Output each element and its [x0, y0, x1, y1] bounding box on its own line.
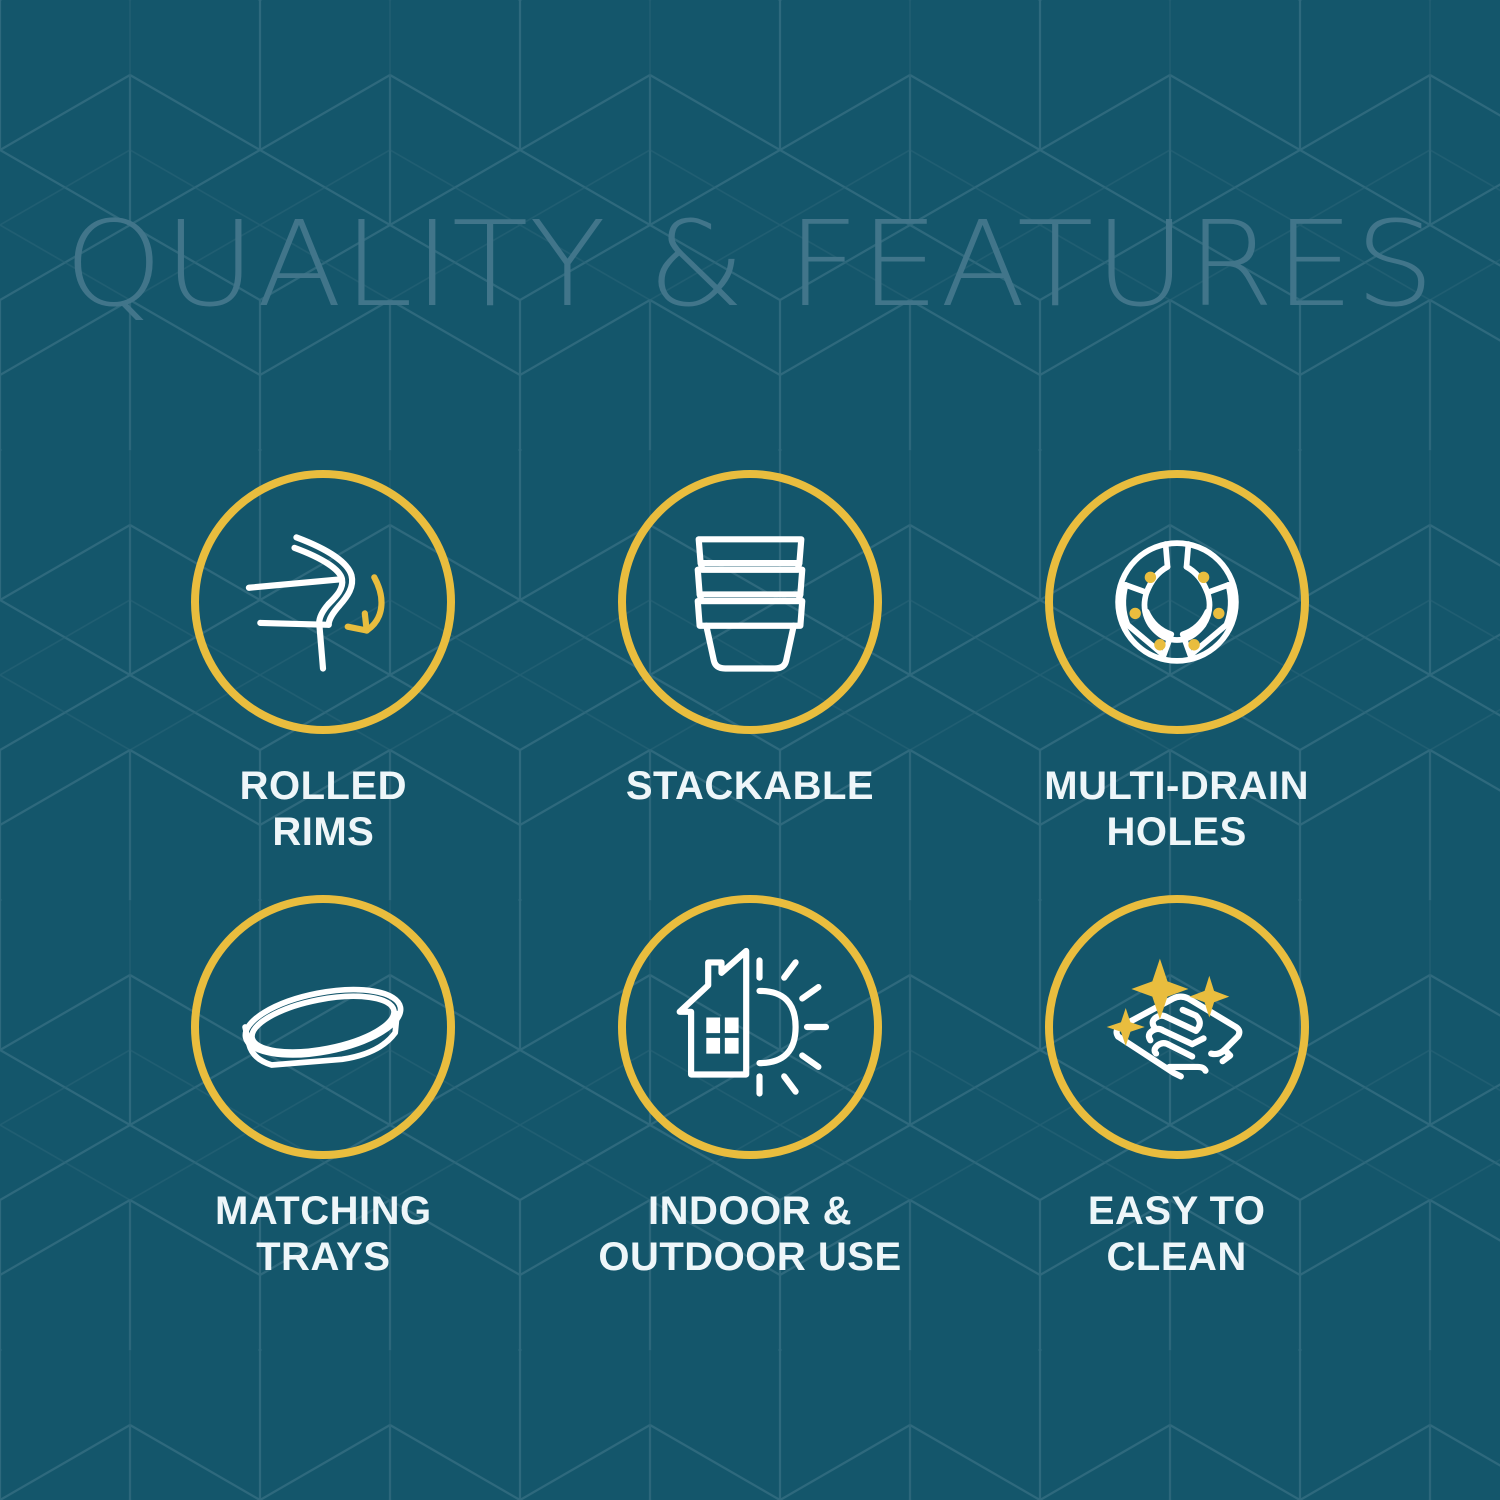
tray-icon [228, 932, 418, 1122]
icon-circle-indoor-outdoor [618, 895, 882, 1159]
feature-item-rolled-rims: ROLLED RIMS [113, 470, 533, 895]
feature-item-multi-drain-holes: MULTI-DRAIN HOLES [967, 470, 1387, 895]
stacked-pots-icon [655, 507, 845, 697]
feature-item-indoor-outdoor: INDOOR & OUTDOOR USE [540, 895, 960, 1320]
icon-circle-stackable [618, 470, 882, 734]
feature-label: ROLLED RIMS [240, 764, 407, 855]
feature-label: MULTI-DRAIN HOLES [1044, 764, 1309, 855]
rolled-rim-icon [228, 507, 418, 697]
feature-grid: ROLLED RIMS [110, 470, 1390, 1320]
icon-circle-rolled-rims [191, 470, 455, 734]
drain-holes-icon [1082, 507, 1272, 697]
hand-wiping-sparkle-icon [1082, 932, 1272, 1122]
feature-item-matching-trays: MATCHING TRAYS [113, 895, 533, 1320]
feature-infographic-page: QUALITY & FEATURES [0, 0, 1500, 1500]
feature-item-easy-to-clean: EASY TO CLEAN [967, 895, 1387, 1320]
feature-label: EASY TO CLEAN [1088, 1189, 1266, 1280]
house-sun-icon [655, 932, 845, 1122]
feature-label: INDOOR & OUTDOOR USE [598, 1189, 901, 1280]
icon-circle-matching-trays [191, 895, 455, 1159]
feature-label: MATCHING TRAYS [215, 1189, 432, 1280]
feature-label: STACKABLE [626, 764, 874, 810]
icon-circle-easy-to-clean [1045, 895, 1309, 1159]
icon-circle-multi-drain-holes [1045, 470, 1309, 734]
feature-item-stackable: STACKABLE [540, 470, 960, 895]
page-title: QUALITY & FEATURES [0, 205, 1500, 323]
